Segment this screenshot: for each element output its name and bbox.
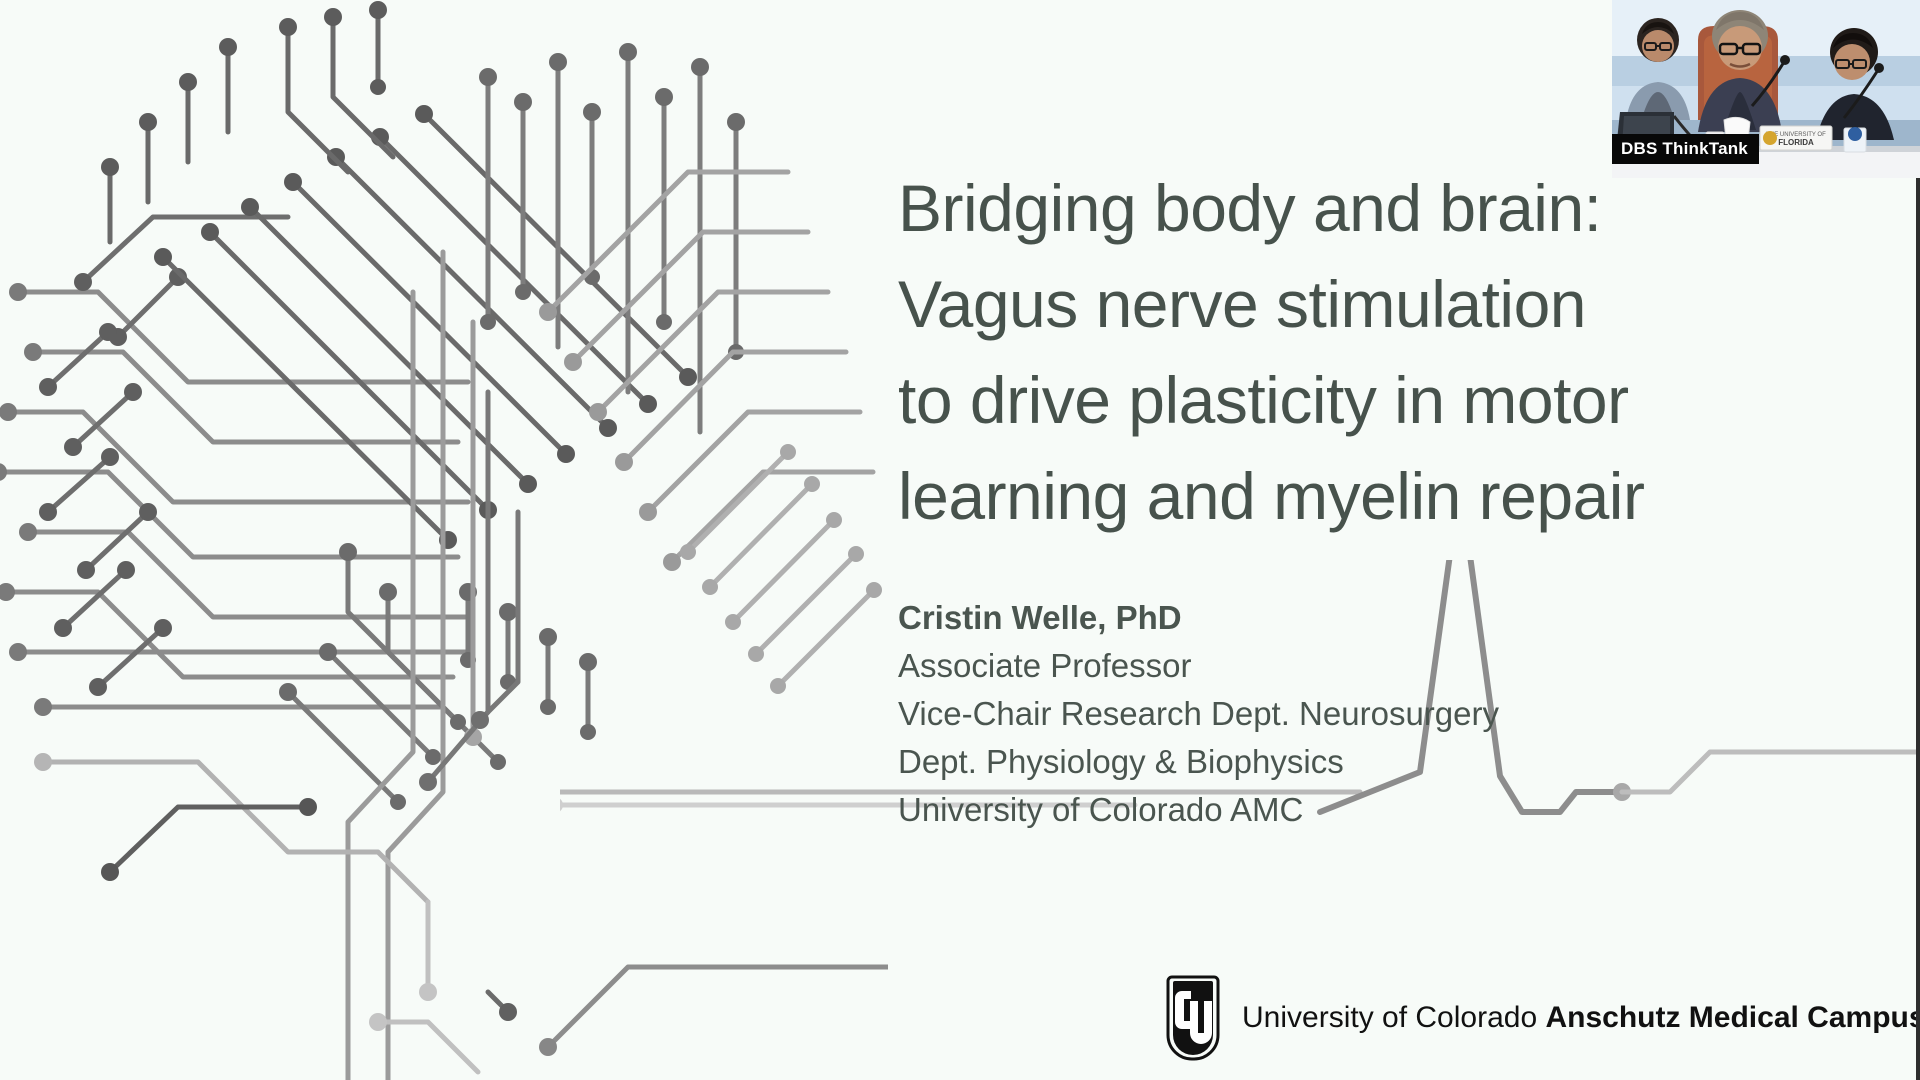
presenter-info: Cristin Welle, PhD Associate Professor V…	[898, 594, 1499, 834]
presentation-slide: Bridging body and brain: Vagus nerve sti…	[0, 0, 1920, 1080]
title-line-4: learning and myelin repair	[898, 448, 1908, 544]
title-line-3: to drive plasticity in motor	[898, 352, 1908, 448]
presenter-title: Associate Professor	[898, 642, 1499, 690]
university-logo: University of Colorado Anschutz Medical …	[1160, 975, 1920, 1061]
title-line-2: Vagus nerve stimulation	[898, 256, 1908, 352]
slide-title: Bridging body and brain: Vagus nerve sti…	[898, 160, 1908, 544]
video-overlay-label: DBS ThinkTank	[1612, 134, 1759, 164]
university-wordmark: University of Colorado Anschutz Medical …	[1242, 1001, 1920, 1035]
presenter-department: Dept. Physiology & Biophysics	[898, 738, 1499, 786]
video-thumbnail-overlay[interactable]: THE UNIVERSITY OF FLORIDA DBS ThinkTank	[1612, 0, 1920, 178]
presenter-institution: University of Colorado AMC	[898, 786, 1499, 834]
svg-text:FLORIDA: FLORIDA	[1778, 138, 1814, 147]
cu-monogram-icon	[1160, 975, 1226, 1061]
presenter-name: Cristin Welle, PhD	[898, 594, 1499, 642]
campus-name: Anschutz Medical Campus	[1545, 1001, 1920, 1034]
university-name: University of Colorado	[1242, 1001, 1545, 1034]
presenter-role: Vice-Chair Research Dept. Neurosurgery	[898, 690, 1499, 738]
